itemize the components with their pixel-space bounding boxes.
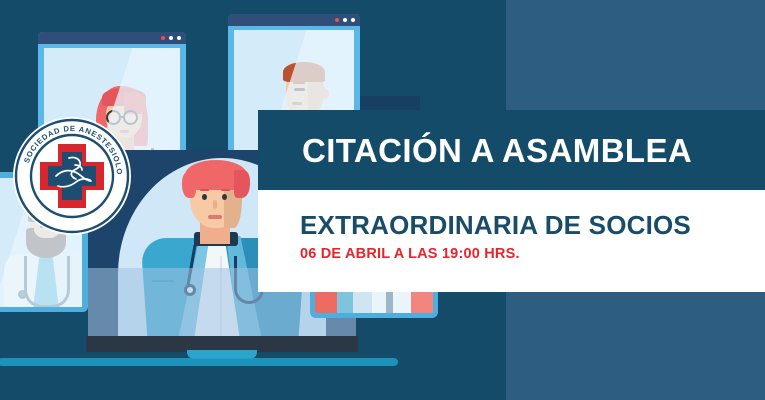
window-dot-red-icon: [161, 36, 165, 40]
society-logo: SOCIEDAD DE ANESTESIOLOGÍA DE CHILE: [12, 116, 132, 236]
window-titlebar: [228, 14, 360, 26]
card-header: CITACIÓN A ASAMBLEA: [258, 110, 765, 190]
card-body: EXTRAORDINARIA DE SOCIOS 06 DE ABRIL A L…: [258, 190, 765, 292]
announcement-card: CITACIÓN A ASAMBLEA EXTRAORDINARIA DE SO…: [258, 110, 765, 292]
window-dot-red-icon: [335, 18, 339, 22]
window-dot-white-icon: [169, 36, 173, 40]
poster-canvas: SOCIEDAD DE ANESTESIOLOGÍA DE CHILE CITA…: [0, 0, 765, 400]
card-subtitle: EXTRAORDINARIA DE SOCIOS: [300, 212, 765, 239]
page-title: CITACIÓN A ASAMBLEA: [258, 134, 692, 167]
window-dot-white-icon: [343, 18, 347, 22]
window-dot-white-icon: [177, 36, 181, 40]
desk-line: [0, 358, 398, 366]
card-datetime: 06 DE ABRIL A LAS 19:00 HRS.: [300, 246, 765, 262]
window-dot-white-icon: [351, 18, 355, 22]
window-titlebar: [38, 32, 186, 44]
